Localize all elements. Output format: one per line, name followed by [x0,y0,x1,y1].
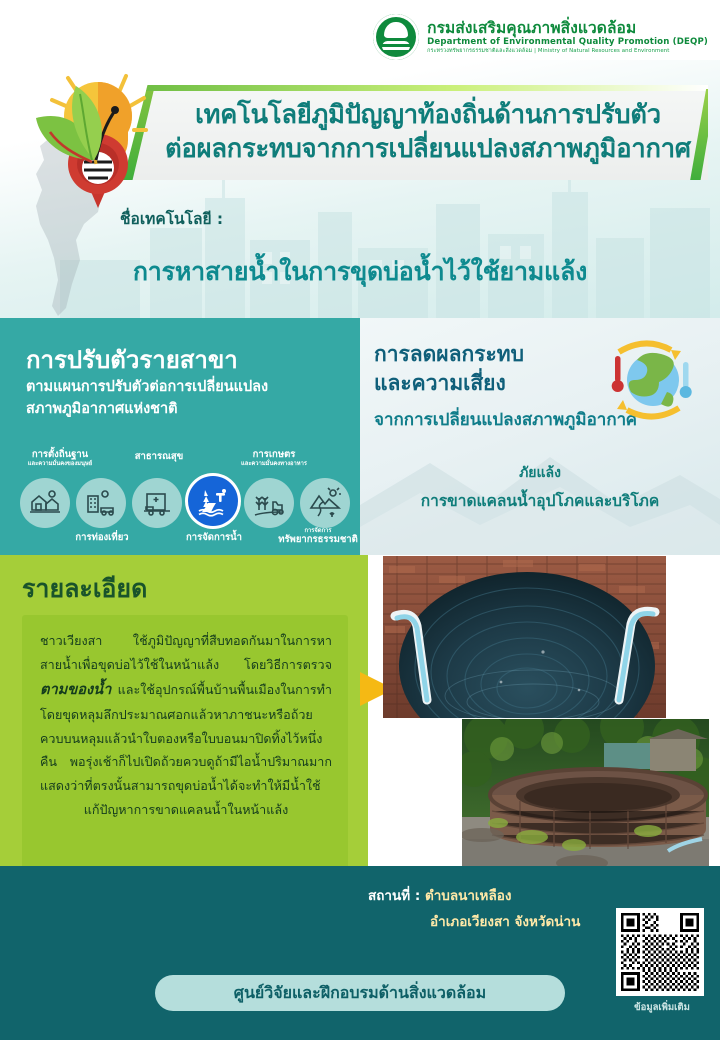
sector-icon-tourism[interactable] [76,478,126,528]
mitigation-panel: การลดผลกระทบ และความเสี่ยง จากการเปลี่ยน… [360,318,720,555]
main-title-banner: เทคโนโลยีภูมิปัญญาท้องถิ่นด้านการปรับตัว… [123,85,708,180]
banner-top-edge [145,85,708,91]
water-management-tap-icon [196,484,230,518]
sector-icon-water-management[interactable] [188,476,238,526]
deqp-logo-text: กรมส่งเสริมคุณภาพสิ่งแวดล้อม Department … [427,20,708,55]
mitigation-heading: การลดผลกระทบ และความเสี่ยง [374,340,584,399]
center-name-pill: ศูนย์วิจัยและฝึกอบรมด้านสิ่งแวดล้อม [155,975,565,1011]
natural-resources-mountain-icon [308,486,342,520]
agriculture-crops-tractor-icon [252,486,286,520]
sector-icon-public-health[interactable] [132,478,182,528]
main-title-line2: ต่อผลกระทบจากการเปลี่ยนแปลงสภาพภูมิอากาศ [159,132,697,166]
photo-well-interior [383,556,666,718]
details-body-part1: ชาวเวียงสา ใช้ภูมิปัญญาที่สืบทอดกันมาในก… [40,633,332,672]
details-body-emphasis: ตามของน้ำ [40,681,111,698]
deqp-logo: กรมส่งเสริมคุณภาพสิ่งแวดล้อม Department … [373,14,708,60]
qr-code-icon[interactable] [616,908,704,996]
center-name: ศูนย์วิจัยและฝึกอบรมด้านสิ่งแวดล้อม [234,981,486,1006]
sector-icon-row: การตั้งถิ่นฐาน และความมั่นคงของมนุษย์ สา… [6,318,366,438]
location-line1: ตำบลนาเหลือง [425,888,511,904]
photo-well-exterior [462,719,709,871]
sector-caption-tourism: การท่องเที่ยว [54,533,150,544]
location-line2: อำเภอเวียงสา จังหวัดน่าน [430,910,580,932]
sector-caption-water: การจัดการน้ำ [166,533,262,544]
sector-icon-settlement[interactable] [20,478,70,528]
risk-description: การขาดแคลนน้ำอุปโภคและบริโภค [360,488,720,513]
qr-caption: ข้อมูลเพิ่มเติม [616,1000,708,1015]
lightbulb-leaf-map-pin-icon [22,68,162,218]
globe-thermometer-cycle-icon [597,336,702,424]
settlement-houses-icon [28,486,62,520]
public-health-hospital-icon [140,486,174,520]
adaptation-panel: การปรับตัวรายสาขา ตามแผนการปรับตัวต่อการ… [0,318,360,555]
mitigation-heading-line1: การลดผลกระทบ [374,342,524,366]
org-ministry-line: กระทรวงทรัพยากรธรรมชาติและสิ่งแวดล้อม | … [427,49,708,55]
mitigation-heading-line2: และความเสี่ยง [374,371,506,395]
sector-caption-agriculture: การเกษตร และความมั่นคงทางอาหาร [224,450,324,468]
hero-section: เทคโนโลยีภูมิปัญญาท้องถิ่นด้านการปรับตัว… [0,60,720,318]
poster-root: กรมส่งเสริมคุณภาพสิ่งแวดล้อม Department … [0,0,720,1040]
deqp-tree-water-seal-icon [373,14,419,60]
main-title-line1: เทคโนโลยีภูมิปัญญาท้องถิ่นด้านการปรับตัว [159,98,697,132]
sector-icon-natural-resources[interactable] [300,478,350,528]
location-info: สถานที่ : ตำบลนาเหลือง [368,884,511,906]
details-body-part2: และใช้อุปกรณ์พื้นบ้านพื้นเมืองในการทำโดย… [40,682,332,816]
org-name-english: Department of Environmental Quality Prom… [427,38,708,47]
main-title: เทคโนโลยีภูมิปัญญาท้องถิ่นด้านการปรับตัว… [159,98,697,166]
technology-name: การหาสายน้ำในการขุดบ่อน้ำไว้ใช้ยามแล้ง [0,252,720,292]
sector-caption-natural-resources: การจัดการ ทรัพยากรธรรมชาติ [268,528,368,546]
qr-block[interactable]: ข้อมูลเพิ่มเติม [616,908,708,1016]
bottom-bar [0,866,720,1040]
well-exterior-image [462,719,709,871]
details-body: ชาวเวียงสา ใช้ภูมิปัญญาที่สืบทอดกันมาในก… [40,629,332,821]
details-heading: รายละเอียด [22,569,147,609]
location-label: สถานที่ : [368,888,420,904]
org-name-thai: กรมส่งเสริมคุณภาพสิ่งแวดล้อม [427,20,708,36]
risk-title: ภัยแล้ง [360,462,720,484]
well-interior-image [383,556,666,718]
sector-caption-settlement: การตั้งถิ่นฐาน และความมั่นคงของมนุษย์ [12,450,108,468]
sector-caption-health: สาธารณสุข [114,452,204,463]
qr-code-matrix [621,913,699,991]
sector-icon-agriculture[interactable] [244,478,294,528]
technology-label: ชื่อเทคโนโลยี : [120,206,223,231]
tourism-city-car-icon [84,486,118,520]
